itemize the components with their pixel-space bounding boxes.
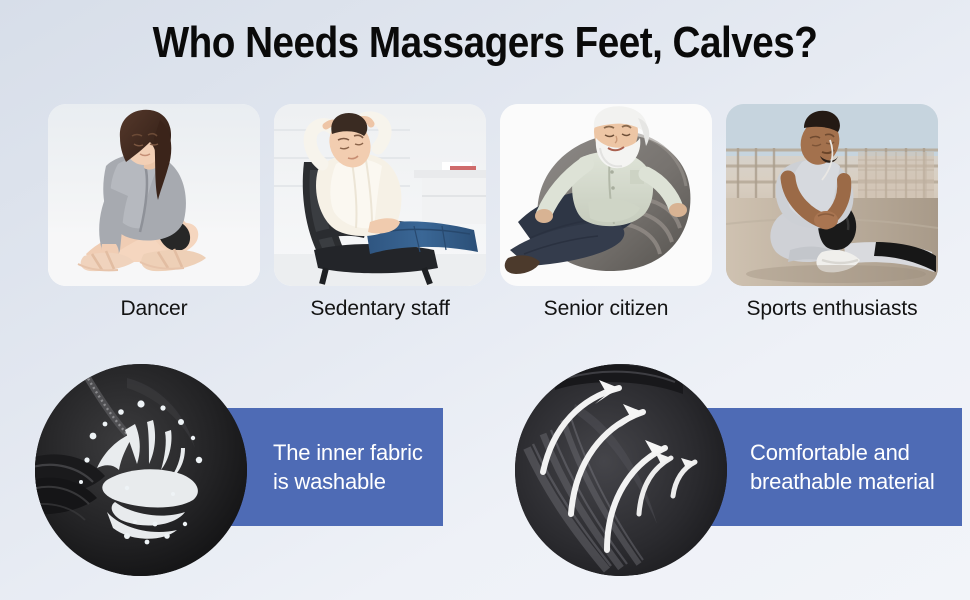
persona-card-senior-citizen: Senior citizen (500, 104, 712, 321)
sports-enthusiasts-photo (726, 104, 938, 286)
infographic-root: Who Needs Massagers Feet, Calves? (0, 0, 970, 600)
persona-label-senior-citizen: Senior citizen (544, 297, 669, 321)
persona-label-sports-enthusiasts: Sports enthusiasts (747, 297, 918, 321)
feature-breathable-text: Comfortable and breathable material (750, 438, 935, 496)
feature-breathable: Comfortable and breathable material (500, 362, 962, 577)
breathable-material-photo (515, 364, 727, 576)
persona-row: Dancer (48, 104, 938, 321)
sedentary-staff-photo (274, 104, 486, 286)
senior-citizen-photo (500, 104, 712, 286)
persona-card-dancer: Dancer (48, 104, 260, 321)
persona-label-sedentary-staff: Sedentary staff (310, 297, 449, 321)
feature-washable-text: The inner fabric is washable (273, 438, 423, 496)
persona-card-sedentary-staff: Sedentary staff (274, 104, 486, 321)
persona-card-sports-enthusiasts: Sports enthusiasts (726, 104, 938, 321)
feature-washable: The inner fabric is washable (20, 362, 450, 577)
persona-label-dancer: Dancer (120, 297, 187, 321)
washable-fabric-photo (35, 364, 247, 576)
page-title: Who Needs Massagers Feet, Calves? (58, 18, 912, 68)
dancer-photo (48, 104, 260, 286)
